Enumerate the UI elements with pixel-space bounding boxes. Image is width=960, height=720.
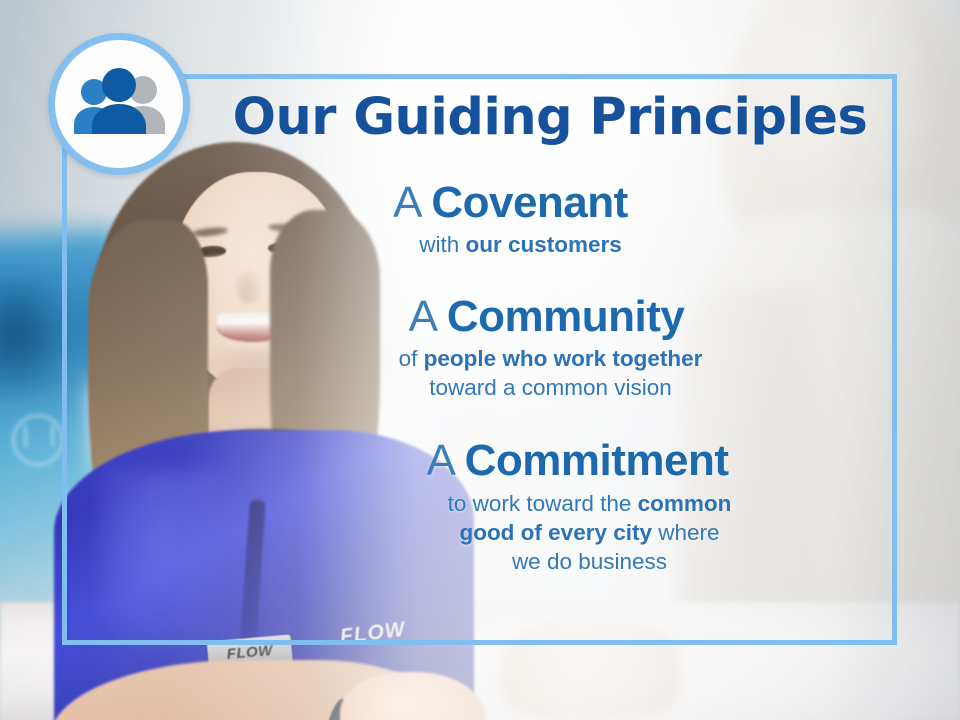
subtitle-plain-1: of — [399, 346, 424, 371]
subtitle-plain-1: to work toward the — [448, 491, 638, 516]
subtitle-plain-3: we do business — [512, 549, 667, 574]
principle-article: A — [393, 178, 419, 227]
principle-community-subtitle: of people who work together toward a com… — [220, 344, 885, 403]
principle-keyword: Community — [447, 292, 685, 341]
principles-list: A Covenant with our customers A Communit… — [220, 178, 885, 582]
subtitle-bold-2: good of every city — [459, 520, 652, 545]
principle-keyword: Covenant — [431, 178, 627, 227]
principle-covenant-title: A Covenant — [220, 178, 885, 227]
subtitle-bold-1: people who work together — [424, 346, 703, 371]
principle-community-title: A Community — [220, 292, 885, 341]
banner-canvas: FLOW FLOW Our Guiding Principles — [0, 0, 960, 720]
subtitle-bold-1: common — [638, 491, 732, 516]
subtitle-plain-2: toward a common vision — [429, 375, 672, 400]
principle-commitment-title: A Commitment — [220, 436, 885, 485]
principle-article: A — [426, 436, 452, 485]
principle-covenant-subtitle: with our customers — [220, 230, 885, 259]
principle-commitment-subtitle: to work toward the common good of every … — [220, 489, 885, 577]
spacer — [220, 408, 885, 436]
page-title: Our Guiding Principles — [210, 92, 890, 144]
principle-keyword: Commitment — [465, 436, 729, 485]
people-group-icon — [67, 68, 171, 140]
principle-commitment: A Commitment to work toward the common g… — [220, 436, 885, 576]
subtitle-plain-1: with — [419, 232, 465, 257]
people-group-badge — [48, 33, 190, 175]
subtitle-plain-2: where — [652, 520, 720, 545]
subtitle-bold-1: our customers — [465, 232, 621, 257]
principle-covenant: A Covenant with our customers — [220, 178, 885, 260]
spacer — [220, 266, 885, 292]
principle-community: A Community of people who work together … — [220, 292, 885, 403]
principle-article: A — [409, 292, 435, 341]
